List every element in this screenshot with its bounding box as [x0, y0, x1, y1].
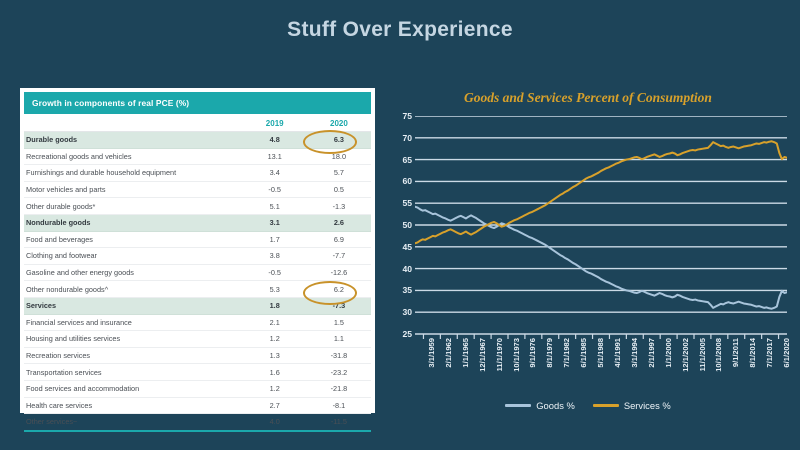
table-row: Services1.8-7.3: [24, 297, 371, 314]
pce-table: 2019 2020 Durable goods4.86.3Recreationa…: [24, 114, 371, 432]
table-row: Clothing and footwear3.8-7.7: [24, 248, 371, 265]
x-axis-tick-label: 7/1/1982: [562, 338, 571, 368]
legend-label: Goods %: [536, 400, 575, 411]
y-axis-tick-35: 35: [386, 285, 412, 295]
table-row: Food services and accommodation1.2-21.8: [24, 380, 371, 397]
row-value-2020: 5.7: [307, 165, 371, 182]
row-value-2020: 18.0: [307, 148, 371, 165]
x-axis-tick-label: 12/1/2002: [681, 338, 690, 372]
table-header-row: 2019 2020: [24, 114, 371, 132]
row-label: Recreation services: [24, 347, 243, 364]
row-value-2020: 6.3: [307, 132, 371, 149]
row-label: Motor vehicles and parts: [24, 181, 243, 198]
y-axis-tick-60: 60: [386, 176, 412, 186]
table-row: Financial services and insurance2.11.5: [24, 314, 371, 331]
y-axis-tick-75: 75: [386, 111, 412, 121]
row-value-2020: -8.1: [307, 397, 371, 414]
row-label: Services: [24, 297, 243, 314]
x-axis-tick-label: 4/1/1991: [613, 338, 622, 368]
row-value-2020: 2.6: [307, 214, 371, 231]
row-value-2019: -0.5: [243, 181, 307, 198]
x-axis-tick-label: 11/1/1970: [495, 338, 504, 371]
x-axis-tick-labels: 3/1/19592/1/19621/1/196512/1/196711/1/19…: [415, 338, 787, 398]
row-value-2019: 5.1: [243, 198, 307, 215]
column-header-label: [24, 114, 243, 132]
y-axis-tick-70: 70: [386, 133, 412, 143]
x-axis-tick-label: 9/1/1976: [528, 338, 537, 368]
consumption-chart-panel: Goods and Services Percent of Consumptio…: [386, 88, 790, 428]
chart-lines: [415, 116, 787, 334]
row-label: Furnishings and durable household equipm…: [24, 165, 243, 182]
table-row: Gasoline and other energy goods-0.5-12.6: [24, 264, 371, 281]
table-header-title: Growth in components of real PCE (%): [24, 92, 371, 114]
x-axis-tick-label: 11/1/2005: [698, 338, 707, 371]
y-axis-tick-25: 25: [386, 329, 412, 339]
x-axis-tick-label: 6/1/1985: [579, 338, 588, 368]
x-axis-tick-label: 8/1/1979: [545, 338, 554, 368]
row-value-2020: 1.1: [307, 331, 371, 348]
row-value-2019: 1.2: [243, 331, 307, 348]
y-axis-tick-55: 55: [386, 198, 412, 208]
y-axis-tick-45: 45: [386, 242, 412, 252]
x-axis-tick-label: 3/1/1959: [427, 338, 436, 368]
legend-swatch-icon: [505, 404, 531, 407]
x-axis-tick-label: 8/1/2014: [748, 338, 757, 368]
table-row: Health care services2.7-8.1: [24, 397, 371, 414]
x-axis-tick-label: 2/1/1962: [444, 338, 453, 368]
x-axis-tick-label: 1/1/2000: [664, 338, 673, 368]
row-value-2020: 6.9: [307, 231, 371, 248]
x-axis-tick-label: 10/1/2008: [714, 338, 723, 372]
page-title: Stuff Over Experience: [0, 18, 800, 42]
row-value-2019: 2.1: [243, 314, 307, 331]
row-value-2019: 5.3: [243, 281, 307, 298]
y-axis-tick-labels: 7570656055504540353025: [386, 116, 412, 334]
row-value-2020: -7.3: [307, 297, 371, 314]
row-value-2020: 1.5: [307, 314, 371, 331]
row-value-2019: 1.2: [243, 380, 307, 397]
row-label: Other durable goods*: [24, 198, 243, 215]
x-axis-tick-label: 1/1/1965: [461, 338, 470, 368]
y-axis-tick-50: 50: [386, 220, 412, 230]
y-axis-tick-65: 65: [386, 155, 412, 165]
row-label: Housing and utilities services: [24, 331, 243, 348]
table-row: Recreational goods and vehicles13.118.0: [24, 148, 371, 165]
x-axis-tick-label: 7/1/2017: [765, 338, 774, 368]
row-label: Health care services: [24, 397, 243, 414]
row-value-2019: 4.8: [243, 132, 307, 149]
series-line-goods: [415, 207, 787, 309]
table-row: Other nondurable goods^5.36.2: [24, 281, 371, 298]
row-value-2020: -12.6: [307, 264, 371, 281]
table-row: Transportation services1.6-23.2: [24, 364, 371, 381]
table-head: 2019 2020: [24, 114, 371, 132]
row-value-2019: 4.0: [243, 414, 307, 431]
chart-title: Goods and Services Percent of Consumptio…: [386, 90, 790, 106]
series-line-services: [415, 141, 787, 243]
row-value-2019: 1.8: [243, 297, 307, 314]
chart-plot-area: 7570656055504540353025: [386, 116, 790, 334]
table-row: Durable goods4.86.3: [24, 132, 371, 149]
x-axis-tick-label: 3/1/1994: [630, 338, 639, 368]
row-value-2020: -1.3: [307, 198, 371, 215]
row-label: Other nondurable goods^: [24, 281, 243, 298]
chart-svg: [415, 116, 787, 342]
row-label: Recreational goods and vehicles: [24, 148, 243, 165]
table-row: Housing and utilities services1.21.1: [24, 331, 371, 348]
row-value-2020: -7.7: [307, 248, 371, 265]
x-axis-tick-label: 5/1/1988: [596, 338, 605, 368]
table-row: Recreation services1.3-31.8: [24, 347, 371, 364]
table-row: Nondurable goods3.12.6: [24, 214, 371, 231]
row-label: Durable goods: [24, 132, 243, 149]
table-row: Other durable goods*5.1-1.3: [24, 198, 371, 215]
row-value-2020: 0.5: [307, 181, 371, 198]
chart-legend: Goods %Services %: [386, 400, 790, 411]
row-value-2019: 1.3: [243, 347, 307, 364]
column-header-2019: 2019: [243, 114, 307, 132]
pce-table-panel: Growth in components of real PCE (%) 201…: [20, 88, 375, 413]
row-label: Transportation services: [24, 364, 243, 381]
row-label: Other services~: [24, 414, 243, 431]
legend-item[interactable]: Services %: [593, 400, 671, 411]
row-value-2019: 2.7: [243, 397, 307, 414]
table-row: Motor vehicles and parts-0.50.5: [24, 181, 371, 198]
row-value-2019: 3.1: [243, 214, 307, 231]
x-axis-tick-label: 6/1/2020: [782, 338, 791, 368]
table-row: Other services~4.0-11.5: [24, 414, 371, 431]
x-axis-tick-label: 10/1/1973: [512, 338, 521, 372]
y-axis-tick-30: 30: [386, 307, 412, 317]
row-value-2020: -21.8: [307, 380, 371, 397]
table-body: Durable goods4.86.3Recreational goods an…: [24, 132, 371, 431]
row-label: Food and beverages: [24, 231, 243, 248]
row-label: Gasoline and other energy goods: [24, 264, 243, 281]
slide-canvas: Stuff Over Experience Growth in componen…: [0, 0, 800, 450]
row-value-2019: -0.5: [243, 264, 307, 281]
row-value-2019: 13.1: [243, 148, 307, 165]
row-value-2019: 1.7: [243, 231, 307, 248]
legend-label: Services %: [624, 400, 671, 411]
row-value-2020: 6.2: [307, 281, 371, 298]
row-value-2020: -31.8: [307, 347, 371, 364]
legend-item[interactable]: Goods %: [505, 400, 575, 411]
x-axis-tick-label: 12/1/1967: [478, 338, 487, 372]
x-axis-tick-label: 2/1/1997: [647, 338, 656, 368]
row-value-2020: -11.5: [307, 414, 371, 431]
column-header-2020: 2020: [307, 114, 371, 132]
table-row: Furnishings and durable household equipm…: [24, 165, 371, 182]
row-value-2019: 3.8: [243, 248, 307, 265]
row-label: Nondurable goods: [24, 214, 243, 231]
legend-swatch-icon: [593, 404, 619, 407]
y-axis-tick-40: 40: [386, 264, 412, 274]
row-label: Food services and accommodation: [24, 380, 243, 397]
row-label: Financial services and insurance: [24, 314, 243, 331]
row-value-2019: 1.6: [243, 364, 307, 381]
row-value-2020: -23.2: [307, 364, 371, 381]
x-axis-tick-label: 9/1/2011: [731, 338, 740, 367]
row-value-2019: 3.4: [243, 165, 307, 182]
row-label: Clothing and footwear: [24, 248, 243, 265]
table-row: Food and beverages1.76.9: [24, 231, 371, 248]
